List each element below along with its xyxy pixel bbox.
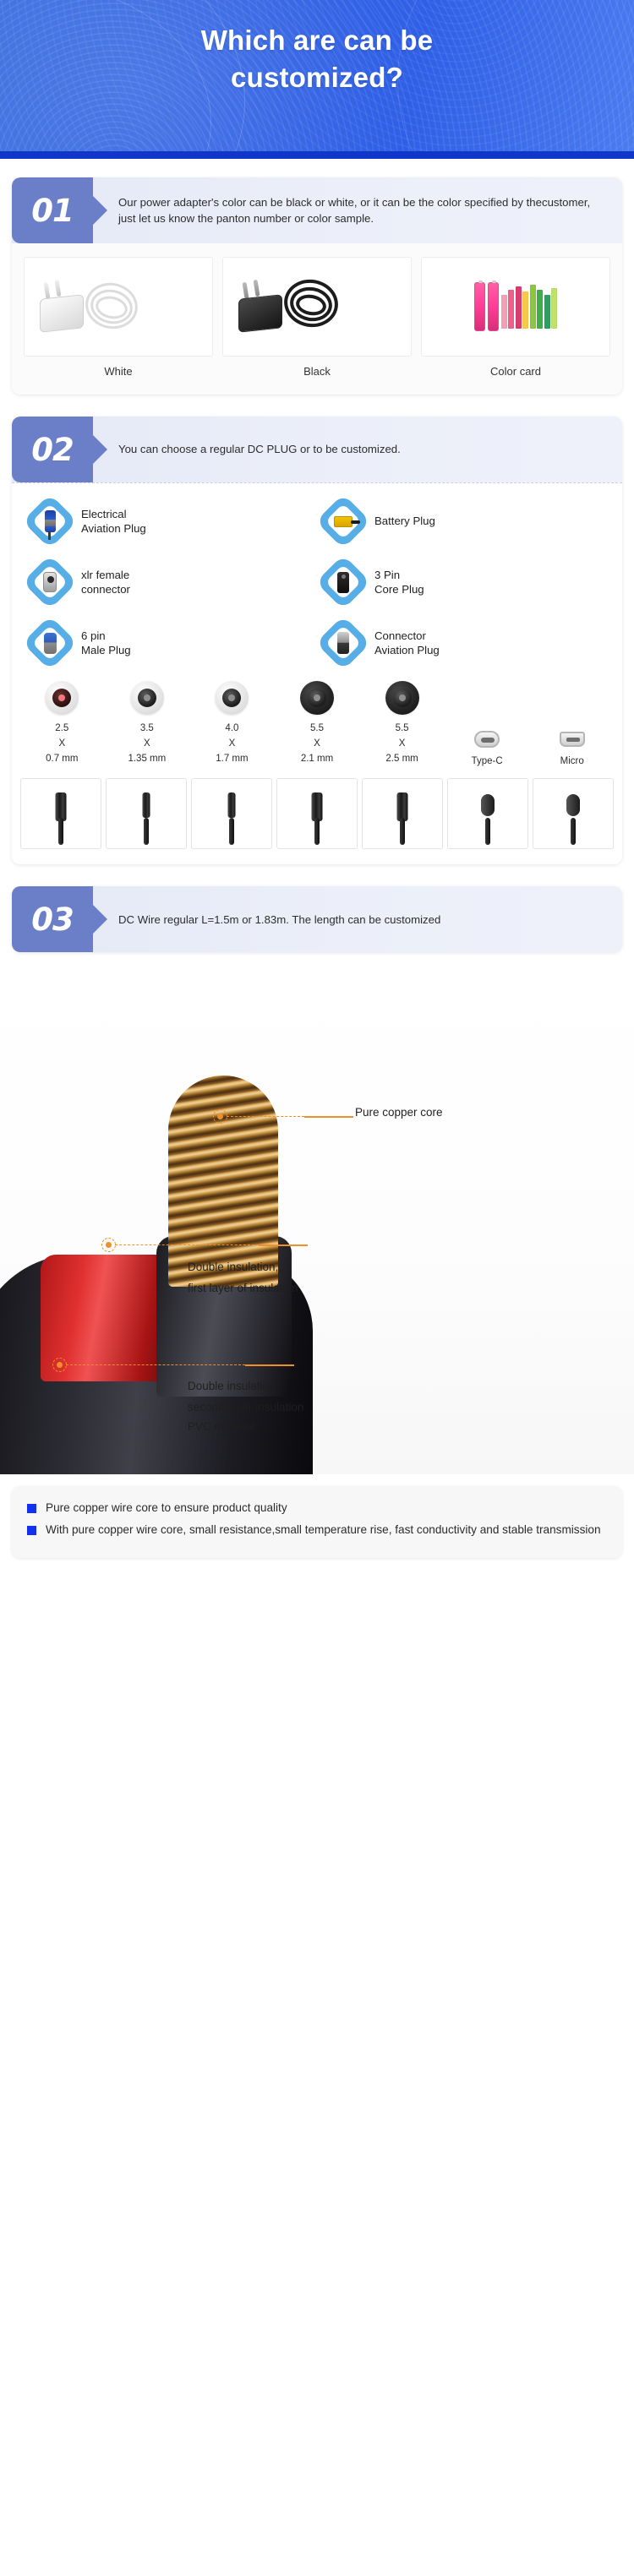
dc-tip-photo — [106, 778, 187, 849]
dc-tip-photo — [533, 778, 614, 849]
page-title: Which are can be customized? — [0, 0, 634, 95]
callout-label: first layer of insulation — [188, 1280, 298, 1298]
white-adapter-photo — [24, 257, 213, 357]
benefit-text: Pure copper wire core to ensure product … — [46, 1500, 287, 1517]
plug-thumb-frame — [25, 558, 74, 607]
dc-size-spec: 4.0 X 1.7 mm — [190, 722, 274, 766]
dc-size-spec: 3.5 X 1.35 mm — [106, 722, 189, 766]
callout-leader-line — [259, 1244, 308, 1246]
plug-type-grid: Electrical Aviation Plug Battery Plug — [12, 483, 622, 674]
dc-size-spec: 5.5 X 2.5 mm — [360, 722, 444, 766]
callout-leader-line — [304, 1116, 353, 1118]
type-c-connector-icon — [474, 731, 500, 748]
color-card-photo — [421, 257, 610, 357]
callout-label: PVC material — [188, 1419, 255, 1436]
dc-jack-icon — [45, 681, 79, 715]
black-adapter-photo — [222, 257, 412, 357]
plug-type-label: xlr female connector — [81, 568, 130, 596]
section-01-description: Our power adapter's color can be black o… — [93, 177, 622, 243]
section-01-number: 01 — [31, 193, 74, 229]
plug-thumb-frame — [25, 497, 74, 546]
plug-type-label: 6 pin Male Plug — [81, 629, 131, 657]
dc-jack-icon — [300, 681, 334, 715]
callout-leader-line — [245, 1364, 294, 1366]
plug-thumb-frame — [319, 497, 368, 546]
product-cell-black: Black — [222, 257, 412, 378]
dc-tip-photo — [447, 778, 528, 849]
dc-size-spec: 5.5 X 2.1 mm — [276, 722, 359, 766]
plug-type-6pin-male: 6 pin Male Plug — [25, 618, 315, 667]
product-label-black: Black — [222, 365, 412, 378]
bullet-square-icon — [27, 1504, 36, 1513]
plug-pin-icon — [253, 280, 260, 297]
dc-size-cell: 3.5 X 1.35 mm — [106, 681, 189, 766]
product-cell-color-card: Color card — [421, 257, 610, 378]
callout-label: second layer insulation — [188, 1399, 303, 1417]
dc-size-spec: Micro — [530, 756, 614, 766]
section-03-number: 03 — [31, 901, 74, 938]
dc-size-cell: Type-C — [445, 722, 529, 766]
pantone-fan-deck — [501, 285, 558, 329]
battery-plug-icon — [334, 516, 353, 527]
plug-type-label: Connector Aviation Plug — [374, 629, 440, 657]
adapter-body — [40, 294, 84, 332]
dc-size-row: 2.5 X 0.7 mm 3.5 X 1.35 mm — [12, 674, 622, 770]
page-title-line1: Which are can be — [0, 22, 634, 59]
section-02-header: 02 You can choose a regular DC PLUG or t… — [12, 417, 622, 482]
section-01-header: 01 Our power adapter's color can be blac… — [12, 177, 622, 243]
plug-thumb-frame — [319, 558, 368, 607]
adapter-body — [238, 294, 282, 332]
dc-jack-icon — [130, 681, 164, 715]
plug-type-connector-aviation: Connector Aviation Plug — [319, 618, 609, 667]
benefits-card: Pure copper wire core to ensure product … — [12, 1486, 622, 1558]
benefits-section: Pure copper wire core to ensure product … — [0, 1474, 634, 1575]
benefit-item: Pure copper wire core to ensure product … — [27, 1500, 607, 1517]
header-banner: Which are can be customized? — [0, 0, 634, 159]
section-01-product-row: White Black — [12, 243, 622, 395]
callout-leader-line — [227, 1116, 304, 1117]
micro-usb-connector-icon — [560, 732, 585, 747]
section-02-description: You can choose a regular DC PLUG or to b… — [93, 417, 622, 482]
three-pin-core-plug-icon — [337, 572, 349, 593]
section-02-number: 02 — [31, 432, 74, 468]
callout-label: Double insulation — [188, 1378, 276, 1396]
plug-type-label: 3 Pin Core Plug — [374, 568, 424, 596]
color-swatch-group — [422, 258, 609, 356]
xlr-female-connector-icon — [43, 572, 57, 592]
plug-type-label: Battery Plug — [374, 514, 435, 528]
copper-core-strands — [168, 1076, 278, 1287]
plug-pin-icon — [54, 280, 61, 297]
dc-size-cell: Micro — [530, 722, 614, 766]
section-02-badge: 02 — [12, 417, 93, 482]
plug-type-3pin-core: 3 Pin Core Plug — [319, 558, 609, 607]
plug-thumb-frame — [319, 618, 368, 667]
dc-jack-icon — [215, 681, 249, 715]
benefit-text: With pure copper wire core, small resist… — [46, 1522, 601, 1539]
dc-tip-photo — [276, 778, 358, 849]
infographic-page: Which are can be customized? 01 Our powe… — [0, 0, 634, 1575]
section-03-description: DC Wire regular L=1.5m or 1.83m. The len… — [93, 886, 622, 952]
dc-tip-photo — [191, 778, 272, 849]
dc-size-cell: 4.0 X 1.7 mm — [190, 681, 274, 766]
dc-size-spec: 2.5 X 0.7 mm — [20, 722, 104, 766]
product-cell-white: White — [24, 257, 213, 378]
plug-thumb-frame — [25, 618, 74, 667]
dc-tip-photo — [20, 778, 101, 849]
connector-aviation-plug-icon — [337, 632, 349, 654]
section-01: 01 Our power adapter's color can be blac… — [0, 159, 634, 395]
section-01-badge: 01 — [12, 177, 93, 243]
pink-sample-bar — [488, 282, 499, 331]
callout-label: Pure copper core — [355, 1104, 443, 1122]
callout-leader-line — [115, 1244, 259, 1245]
section-02-card: 02 You can choose a regular DC PLUG or t… — [12, 417, 622, 864]
section-03: 03 DC Wire regular L=1.5m or 1.83m. The … — [0, 864, 634, 952]
plug-pin-icon — [43, 282, 50, 300]
section-03-header: 03 DC Wire regular L=1.5m or 1.83m. The … — [12, 886, 622, 952]
bullet-square-icon — [27, 1526, 36, 1535]
dc-size-cell: 5.5 X 2.5 mm — [360, 681, 444, 766]
dc-size-cell: 5.5 X 2.1 mm — [276, 681, 359, 766]
copper-wire-photo: Pure copper core Double insulation, firs… — [0, 967, 634, 1474]
section-03-badge: 03 — [12, 886, 93, 952]
product-label-white: White — [24, 365, 213, 378]
plug-type-label: Electrical Aviation Plug — [81, 507, 146, 536]
callout-label: Double insulation, — [188, 1259, 278, 1277]
dc-size-cell: 2.5 X 0.7 mm — [20, 681, 104, 766]
dc-size-spec: Type-C — [445, 756, 529, 766]
dc-tip-photo — [362, 778, 443, 849]
section-02: 02 You can choose a regular DC PLUG or t… — [0, 395, 634, 864]
benefit-item: With pure copper wire core, small resist… — [27, 1522, 607, 1539]
copper-core-strands — [52, 1090, 156, 1301]
plug-type-xlr-female: xlr female connector — [25, 558, 315, 607]
plug-type-battery: Battery Plug — [319, 497, 609, 546]
plug-type-electrical-aviation: Electrical Aviation Plug — [25, 497, 315, 546]
dc-jack-icon — [385, 681, 419, 715]
product-label-color-card: Color card — [421, 365, 610, 378]
six-pin-male-plug-icon — [44, 633, 57, 654]
page-title-line2: customized? — [0, 59, 634, 96]
callout-leader-line — [66, 1364, 245, 1365]
dc-tip-photo-row — [12, 770, 622, 864]
electrical-aviation-plug-icon — [45, 510, 56, 532]
plug-pin-icon — [242, 282, 249, 300]
pink-sample-bar — [474, 282, 485, 331]
section-01-card: 01 Our power adapter's color can be blac… — [12, 177, 622, 395]
